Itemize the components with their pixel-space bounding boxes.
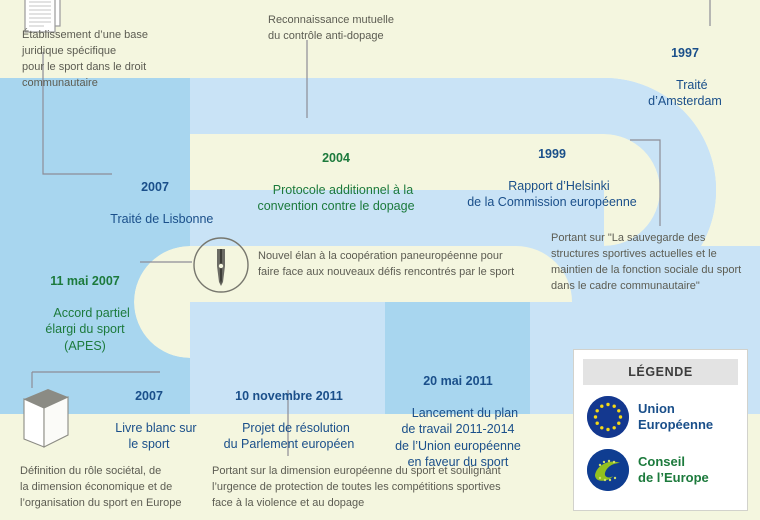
event-livre-blanc: 2007 Livre blanc sur le sport: [88, 355, 210, 469]
event-year: 20 mai 2011: [388, 373, 528, 389]
legend-panel: LÉGENDE: [573, 349, 748, 511]
eu-flag-icon: [587, 396, 629, 438]
event-year: 1999: [452, 146, 652, 162]
note-rapport-helsinki: Portant sur "La sauvegarde des structure…: [551, 231, 760, 295]
event-traite-amsterdam: 1997 Traité d’Amsterdam: [620, 12, 750, 126]
event-protocole-dopage: 2004 Protocole additionnel à la conventi…: [230, 117, 442, 231]
pen-nib-icon: [192, 236, 250, 294]
event-title: Projet de résolution du Parlement europé…: [224, 421, 355, 451]
legend-title: LÉGENDE: [583, 359, 738, 385]
infographic-canvas: Établissement d’une base juridique spéci…: [0, 0, 760, 520]
event-rapport-helsinki: 1999 Rapport d’Helsinki de la Commission…: [452, 113, 652, 227]
event-year: 2004: [230, 150, 442, 166]
event-year: 10 novembre 2011: [205, 388, 373, 404]
event-year: 11 mai 2007: [25, 273, 145, 289]
book-icon: [18, 385, 70, 451]
event-year: 1997: [620, 45, 750, 61]
event-title: Rapport d’Helsinki de la Commission euro…: [467, 179, 637, 209]
coe-flag-icon: [587, 449, 629, 491]
legend-item-label: Union Européenne: [638, 401, 713, 433]
event-title: Accord partiel élargi du sport (APES): [45, 306, 129, 353]
note-livre-blanc: Définition du rôle sociétal, de la dimen…: [20, 464, 220, 512]
note-traite-lisbonne: Établissement d’une base juridique spéci…: [22, 28, 212, 92]
event-traite-lisbonne: 2007 Traité de Lisbonne: [62, 146, 248, 244]
event-title: Lancement du plan de travail 2011-2014 d…: [395, 406, 521, 469]
event-year: 2007: [88, 388, 210, 404]
event-projet-resolution: 10 novembre 2011 Projet de résolution du…: [205, 355, 373, 469]
event-apes: 11 mai 2007 Accord partiel élargi du spo…: [25, 240, 145, 370]
event-title: Traité de Lisbonne: [110, 212, 213, 226]
event-plan-travail: 20 mai 2011 Lancement du plan de travail…: [388, 340, 528, 486]
note-apes: Nouvel élan à la coopération paneuropéen…: [258, 249, 548, 281]
legend-item-union-europeenne: Union Européenne: [583, 396, 738, 438]
event-year: 2007: [62, 179, 248, 195]
event-title: Protocole additionnel à la convention co…: [257, 183, 414, 213]
legend-item-conseil-europe: Conseil de l’Europe: [583, 449, 738, 491]
legend-item-label: Conseil de l’Europe: [638, 454, 709, 486]
note-protocole-dopage: Reconnaissance mutuelle du contrôle anti…: [268, 13, 508, 45]
event-title: Traité d’Amsterdam: [648, 78, 722, 108]
event-title: Livre blanc sur le sport: [115, 421, 196, 451]
